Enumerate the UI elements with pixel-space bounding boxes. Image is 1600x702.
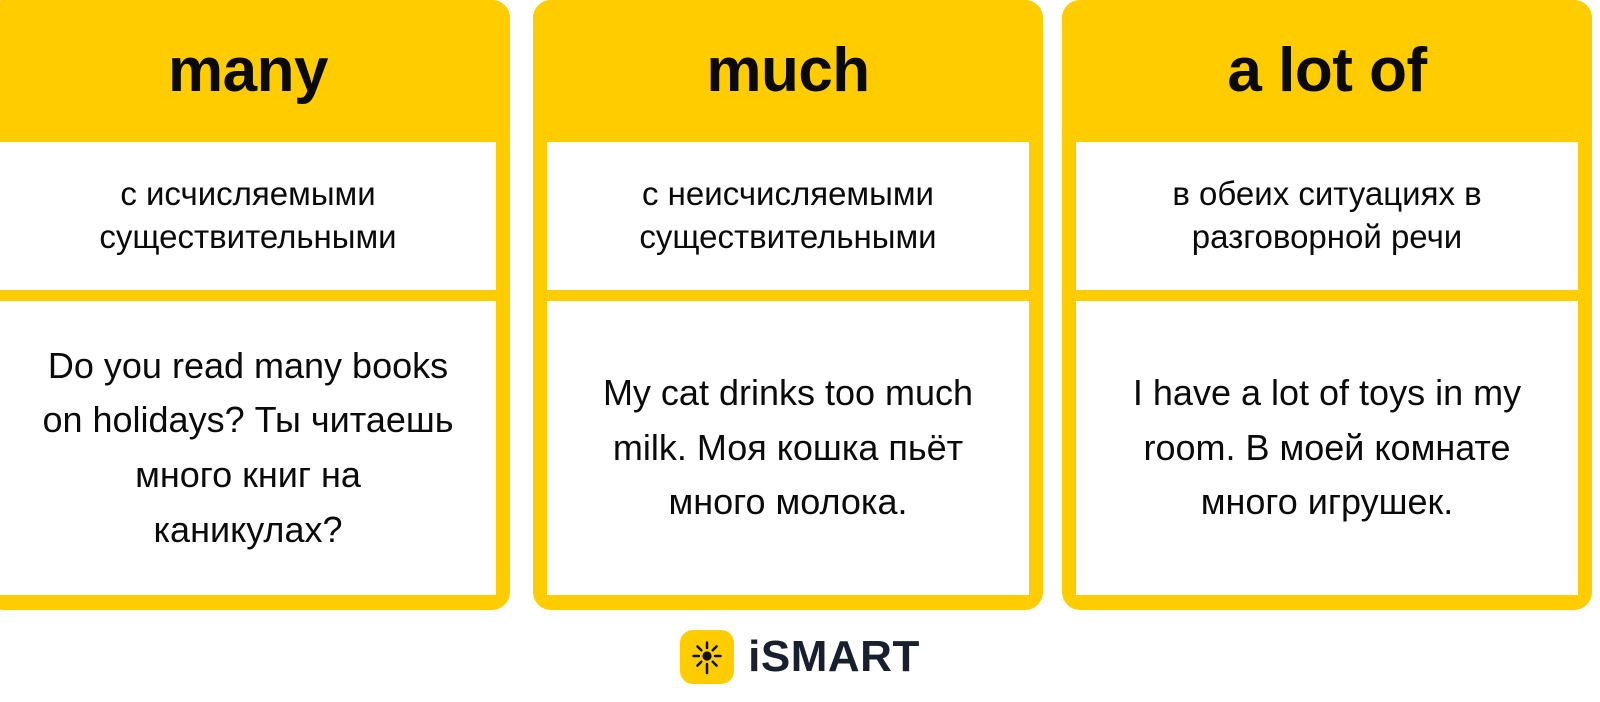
card-much-example-cell: My cat drinks too much milk. Моя кошка п…: [547, 301, 1029, 595]
card-a-lot-of-rule-cell: в обеих ситуациях в разговорной речи: [1076, 142, 1578, 290]
card-a-lot-of-header: a lot of: [1062, 0, 1592, 142]
card-much-header: much: [533, 0, 1043, 142]
card-many-rule-text: с исчисляемыми существительными: [36, 173, 461, 259]
card-many-title: many: [168, 40, 328, 102]
card-many-example-cell: Do you read many books on holidays? Ты ч…: [0, 301, 496, 595]
card-a-lot-of: a lot of в обеих ситуациях в разговорной…: [1062, 0, 1592, 610]
card-a-lot-of-title: a lot of: [1227, 40, 1426, 102]
card-a-lot-of-example-text: I have a lot of toys in my room. В моей …: [1117, 366, 1537, 530]
card-a-lot-of-example-cell: I have a lot of toys in my room. В моей …: [1076, 301, 1578, 595]
card-much-rule-text: с неисчисляемыми существительными: [573, 173, 1003, 259]
sun-burst-icon: [680, 630, 734, 684]
footer: iSMART: [0, 612, 1600, 702]
infographic-root: many с исчисляемыми существительными Do …: [0, 0, 1600, 702]
card-much-rule-cell: с неисчисляемыми существительными: [547, 142, 1029, 290]
comparison-cards-row: many с исчисляемыми существительными Do …: [0, 0, 1600, 612]
ismart-wordmark: iSMART: [748, 635, 920, 679]
card-much-title: much: [706, 40, 869, 102]
card-many-example-text: Do you read many books on holidays? Ты ч…: [38, 339, 458, 558]
card-many-header: many: [0, 0, 510, 142]
card-a-lot-of-body: в обеих ситуациях в разговорной речи I h…: [1076, 142, 1578, 595]
card-a-lot-of-rule-text: в обеих ситуациях в разговорной речи: [1107, 173, 1547, 259]
card-many: many с исчисляемыми существительными Do …: [0, 0, 510, 610]
card-much-example-text: My cat drinks too much milk. Моя кошка п…: [588, 366, 988, 530]
ismart-logo: iSMART: [680, 630, 920, 684]
card-much-body: с неисчисляемыми существительными My cat…: [547, 142, 1029, 595]
card-much: much с неисчисляемыми существительными M…: [533, 0, 1043, 610]
card-many-rule-cell: с исчисляемыми существительными: [0, 142, 496, 290]
card-many-body: с исчисляемыми существительными Do you r…: [0, 142, 496, 595]
